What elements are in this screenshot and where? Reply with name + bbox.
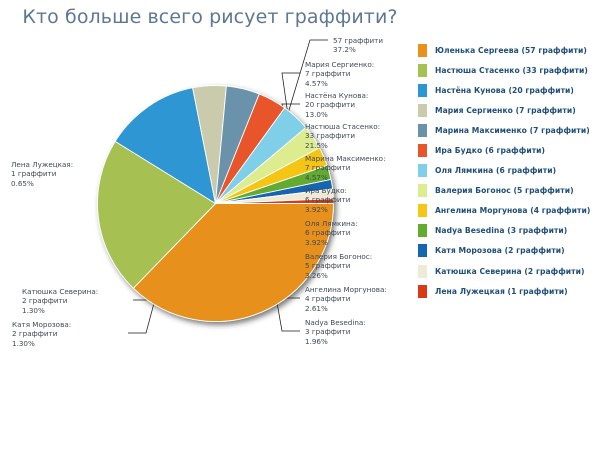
slice-label-percent: 4.57% <box>305 173 386 182</box>
legend-item-label: Мария Сергиенко (7 граффити) <box>435 106 576 115</box>
legend-item[interactable]: Ангелина Моргунова (4 граффити) <box>418 201 604 221</box>
legend-item[interactable]: Мария Сергиенко (7 граффити) <box>418 100 604 120</box>
legend-item-label: Лена Лужецкая (1 граффити) <box>435 287 568 296</box>
legend-item-label: Марина Максименко (7 граффити) <box>435 126 590 135</box>
legend-item-label: Оля Лямкина (6 граффити) <box>435 166 556 175</box>
slice-label-percent: 1.96% <box>305 337 366 346</box>
legend-item[interactable]: Ира Будко (6 граффити) <box>418 140 604 160</box>
slice-label-count: 2 граффити <box>12 329 71 338</box>
legend-item[interactable]: Марина Максименко (7 граффити) <box>418 120 604 140</box>
slice-label-name: Валерия Богонос: <box>305 252 372 261</box>
slice-label-name: Марина Максименко: <box>305 154 386 163</box>
legend-item[interactable]: Катюшка Северина (2 граффити) <box>418 261 604 281</box>
slice-label-name: Настюша Стасенко: <box>305 122 380 131</box>
slice-label-count: 3 граффити <box>305 327 366 336</box>
legend-item[interactable]: Катя Морозова (2 граффити) <box>418 241 604 261</box>
slice-label-count: 6 граффити <box>305 195 350 204</box>
legend-color-swatch <box>418 104 427 117</box>
slice-data-label: Ира Будко:6 граффити3.92% <box>305 186 350 214</box>
pie-slices-group <box>97 85 333 321</box>
slice-data-label: Катюшка Северина:2 граффити1.30% <box>22 287 98 315</box>
slice-label-percent: 0.65% <box>11 179 73 188</box>
legend-item-label: Юленька Сергеева (57 граффити) <box>435 46 587 55</box>
slice-data-label: Лена Лужецкая:1 граффити0.65% <box>11 160 73 188</box>
slice-label-percent: 1.30% <box>12 339 71 348</box>
slice-label-count: 20 граффити <box>305 100 368 109</box>
slice-label-count: 57 граффити <box>333 36 383 45</box>
slice-label-name: Мария Сергиенко: <box>305 60 374 69</box>
pie-chart-figure: Кто больше всего рисует граффити? 57 гра… <box>0 0 604 452</box>
slice-label-count: 1 граффити <box>11 169 73 178</box>
legend-item[interactable]: Nadya Besedina (3 граффити) <box>418 221 604 241</box>
slice-label-percent: 3.26% <box>305 271 372 280</box>
slice-label-name: Настёна Кунова: <box>305 91 368 100</box>
legend-item-label: Катя Морозова (2 граффити) <box>435 246 565 255</box>
legend-item-label: Ангелина Моргунова (4 граффити) <box>435 206 590 215</box>
slice-label-name: Nadya Besedina: <box>305 318 366 327</box>
slice-label-count: 7 граффити <box>305 69 374 78</box>
legend-color-swatch <box>418 144 427 157</box>
legend-item[interactable]: Валерия Богонос (5 граффити) <box>418 181 604 201</box>
slice-label-percent: 37.2% <box>333 45 383 54</box>
slice-label-count: 4 граффити <box>305 294 387 303</box>
slice-data-label: Оля Лямкина:6 граффити3.92% <box>305 219 358 247</box>
slice-label-percent: 13.0% <box>305 110 368 119</box>
legend-color-swatch <box>418 124 427 137</box>
legend-color-swatch <box>418 204 427 217</box>
legend-color-swatch <box>418 84 427 97</box>
legend-color-swatch <box>418 285 427 298</box>
slice-data-label: 57 граффити37.2% <box>333 36 383 55</box>
slice-label-name: Ира Будко: <box>305 186 350 195</box>
slice-label-percent: 21.5% <box>305 141 380 150</box>
legend-item[interactable]: Юленька Сергеева (57 граффити) <box>418 40 604 60</box>
legend-color-swatch <box>418 44 427 57</box>
legend-item[interactable]: Настёна Кунова (20 граффити) <box>418 80 604 100</box>
slice-label-percent: 4.57% <box>305 79 374 88</box>
slice-data-label: Валерия Богонос:5 граффити3.26% <box>305 252 372 280</box>
slice-label-percent: 2.61% <box>305 304 387 313</box>
legend-color-swatch <box>418 64 427 77</box>
slice-label-count: 7 граффити <box>305 163 386 172</box>
legend-item-label: Валерия Богонос (5 граффити) <box>435 186 574 195</box>
slice-label-name: Ангелина Моргунова: <box>305 285 387 294</box>
slice-data-label: Nadya Besedina:3 граффити1.96% <box>305 318 366 346</box>
legend-item[interactable]: Лена Лужецкая (1 граффити) <box>418 281 604 301</box>
legend-color-swatch <box>418 184 427 197</box>
slice-label-name: Оля Лямкина: <box>305 219 358 228</box>
slice-label-count: 6 граффити <box>305 228 358 237</box>
legend-color-swatch <box>418 265 427 278</box>
legend-color-swatch <box>418 244 427 257</box>
slice-data-label: Настюша Стасенко:33 граффити21.5% <box>305 122 380 150</box>
slice-label-name: Лена Лужецкая: <box>11 160 73 169</box>
legend-item-label: Ира Будко (6 граффити) <box>435 146 545 155</box>
legend-item-label: Nadya Besedina (3 граффити) <box>435 226 567 235</box>
legend-item-label: Настюша Стасенко (33 граффити) <box>435 66 588 75</box>
legend-item-label: Настёна Кунова (20 граффити) <box>435 86 574 95</box>
slice-label-percent: 3.92% <box>305 205 350 214</box>
legend-item[interactable]: Настюша Стасенко (33 граффити) <box>418 60 604 80</box>
slice-label-percent: 3.92% <box>305 238 358 247</box>
chart-legend: Юленька Сергеева (57 граффити)Настюша Ст… <box>418 40 604 301</box>
slice-label-name: Катюшка Северина: <box>22 287 98 296</box>
legend-item[interactable]: Оля Лямкина (6 граффити) <box>418 161 604 181</box>
slice-data-label: Настёна Кунова:20 граффити13.0% <box>305 91 368 119</box>
slice-label-percent: 1.30% <box>22 306 98 315</box>
slice-label-count: 33 граффити <box>305 131 380 140</box>
slice-data-label: Марина Максименко:7 граффити4.57% <box>305 154 386 182</box>
legend-color-swatch <box>418 224 427 237</box>
slice-label-name: Катя Морозова: <box>12 320 71 329</box>
slice-data-label: Ангелина Моргунова:4 граффити2.61% <box>305 285 387 313</box>
slice-data-label: Мария Сергиенко:7 граффити4.57% <box>305 60 374 88</box>
legend-color-swatch <box>418 164 427 177</box>
slice-data-label: Катя Морозова:2 граффити1.30% <box>12 320 71 348</box>
legend-item-label: Катюшка Северина (2 граффити) <box>435 267 585 276</box>
slice-label-count: 2 граффити <box>22 296 98 305</box>
slice-label-count: 5 граффити <box>305 261 372 270</box>
